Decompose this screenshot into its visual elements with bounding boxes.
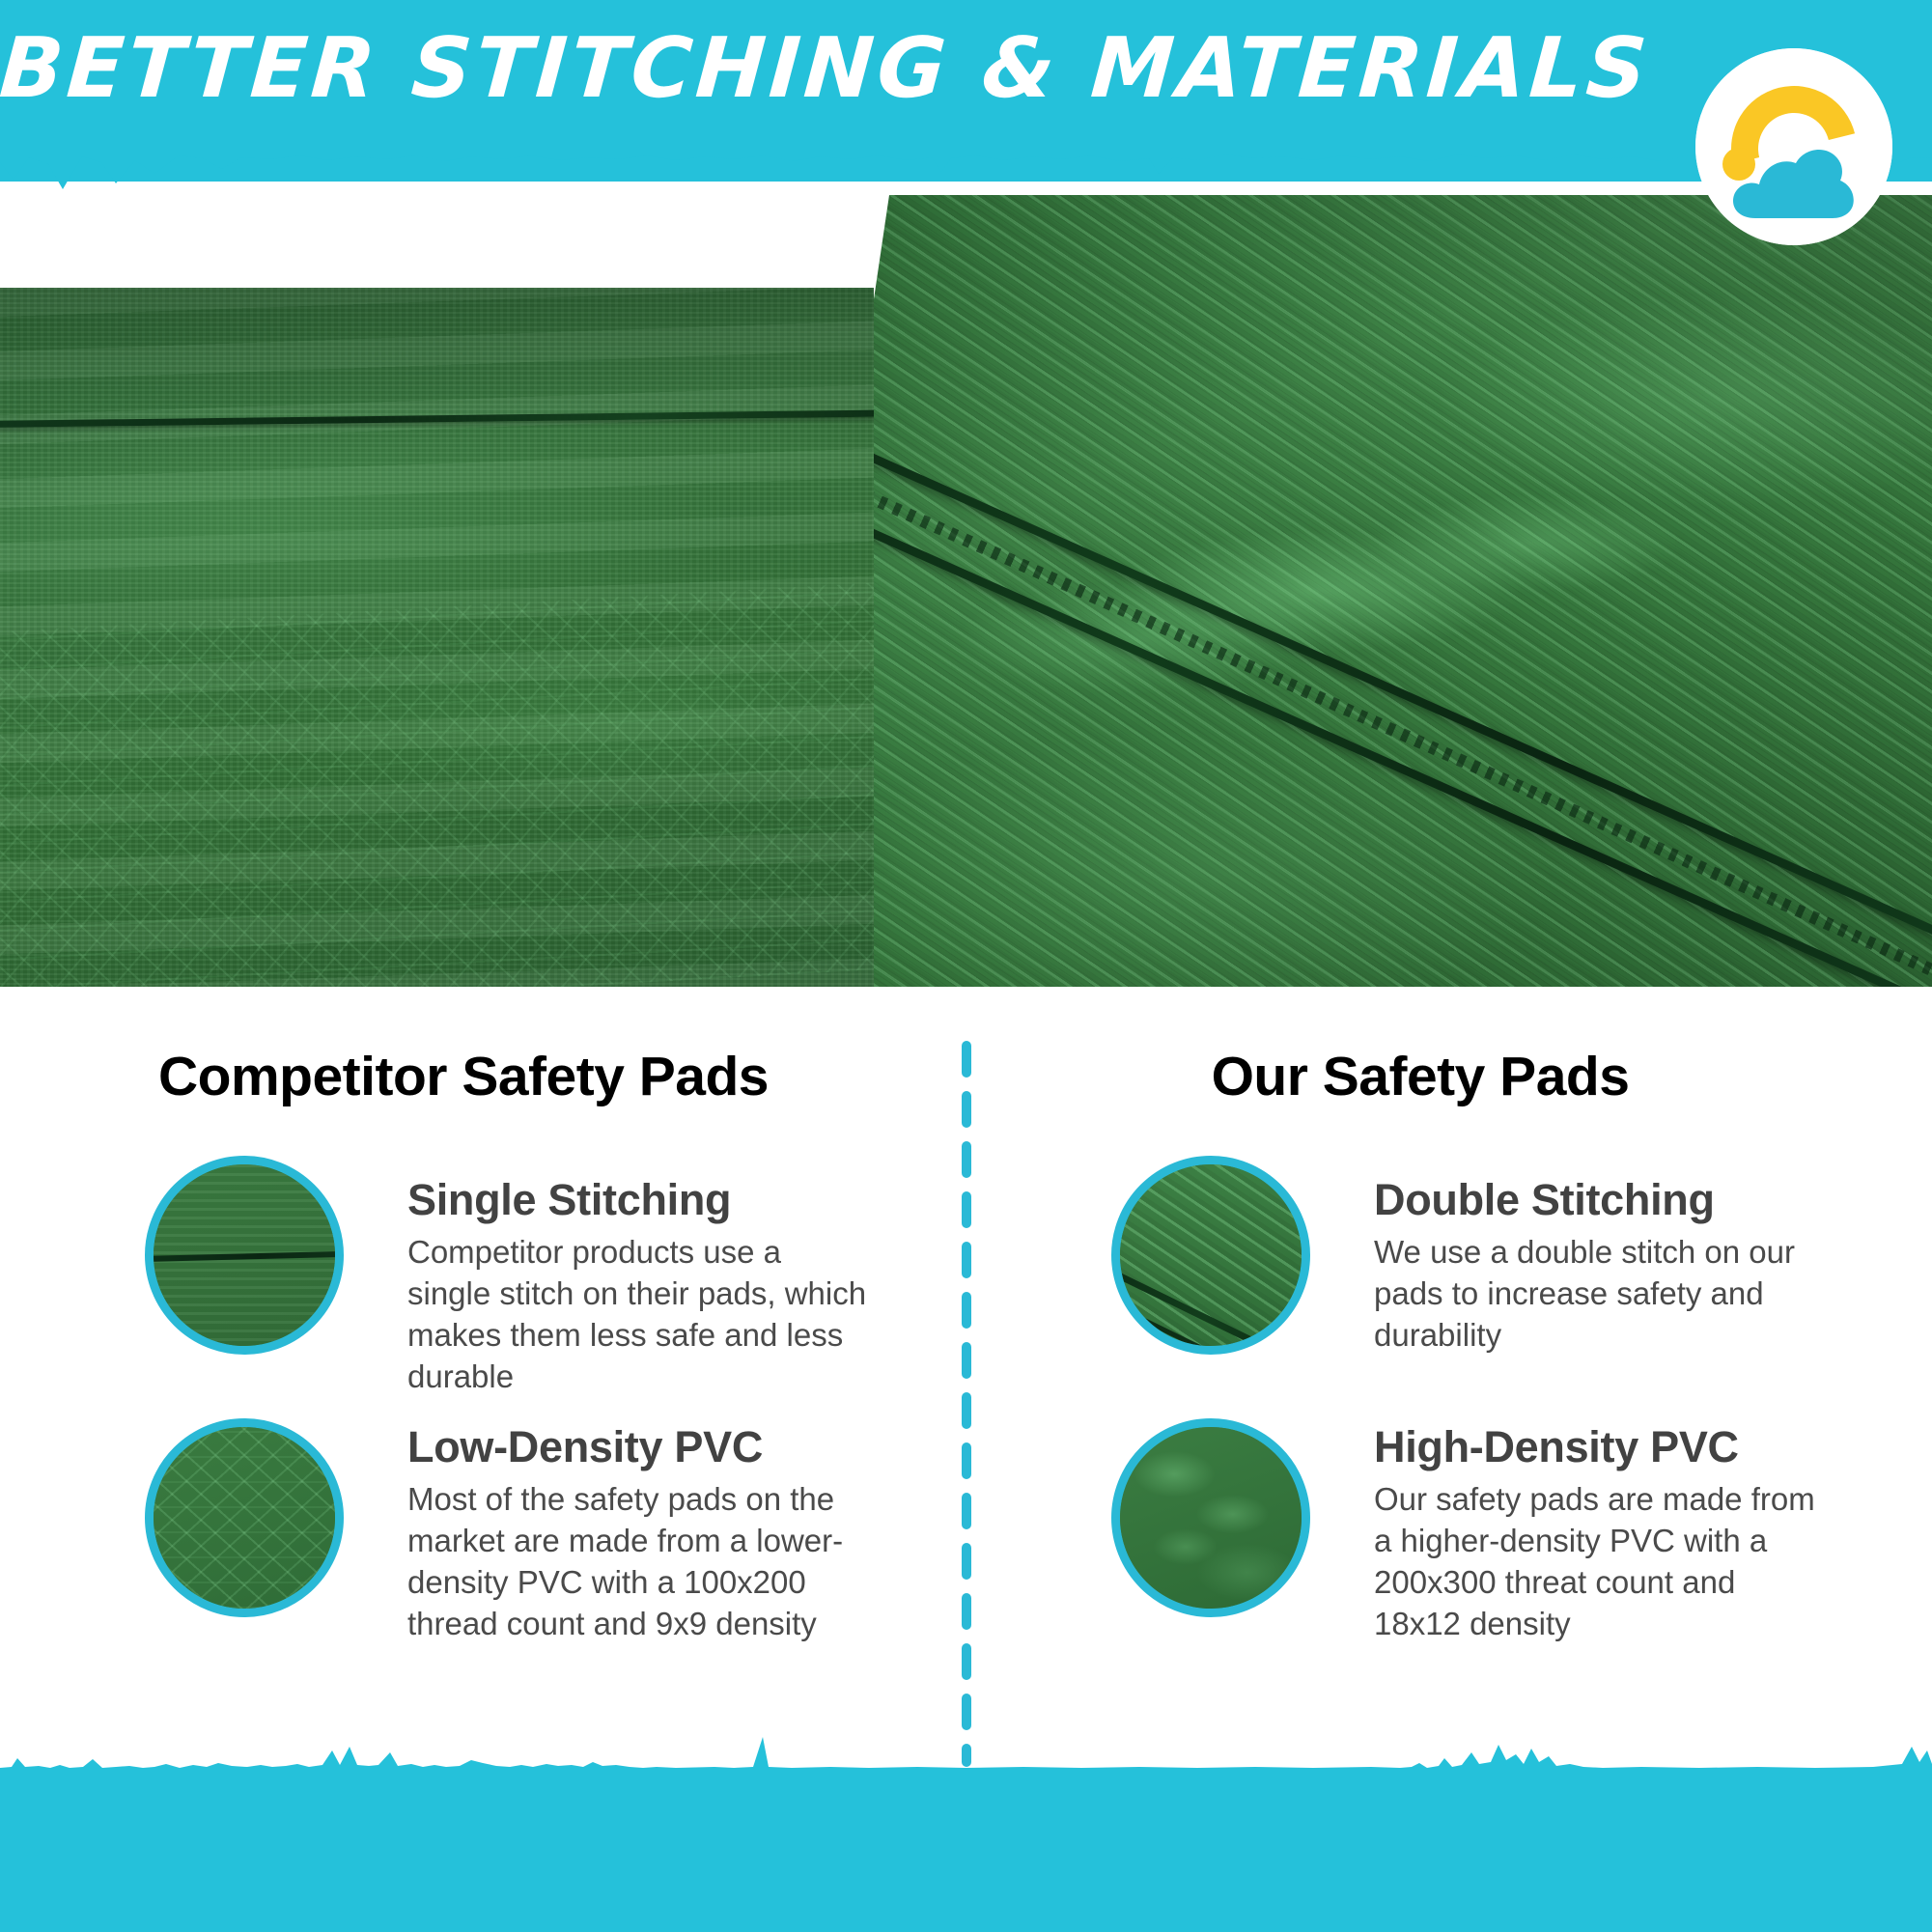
competitor-column: Competitor Safety Pads Single Stitching … <box>0 987 966 1798</box>
feature-description: Our safety pads are made from a higher-d… <box>1374 1479 1828 1645</box>
single-stitch-thumbnail <box>145 1156 344 1355</box>
double-stitch-thumbnail <box>1111 1156 1310 1355</box>
hero-photo-strip <box>0 195 1932 987</box>
column-divider <box>962 1041 971 1767</box>
footer-torn-edge <box>0 1735 1932 1774</box>
header-torn-edge <box>0 145 1932 195</box>
competitor-column-title: Competitor Safety Pads <box>0 1045 966 1108</box>
feature-description: Competitor products use a single stitch … <box>407 1232 871 1398</box>
our-column: Our Safety Pads Double Stitching We use … <box>966 987 1932 1798</box>
competitor-pad-photo <box>0 288 874 987</box>
page-title: Better Stitching & Materials <box>0 27 1644 110</box>
feature-description: We use a double stitch on our pads to in… <box>1374 1232 1828 1357</box>
high-density-pvc-thumbnail <box>1111 1418 1310 1617</box>
infographic-page: Better Stitching & Materials <box>0 0 1932 1932</box>
footer-banner <box>0 1768 1932 1932</box>
sun-cloud-badge-logo <box>1695 48 1892 245</box>
our-column-title: Our Safety Pads <box>966 1045 1932 1108</box>
feature-heading: Single Stitching <box>407 1177 871 1222</box>
our-pad-photo <box>874 195 1932 987</box>
feature-heading: Double Stitching <box>1374 1177 1828 1222</box>
low-density-pvc-thumbnail <box>145 1418 344 1617</box>
feature-description: Most of the safety pads on the market ar… <box>407 1479 871 1645</box>
feature-heading: High-Density PVC <box>1374 1424 1828 1470</box>
feature-heading: Low-Density PVC <box>407 1424 871 1470</box>
